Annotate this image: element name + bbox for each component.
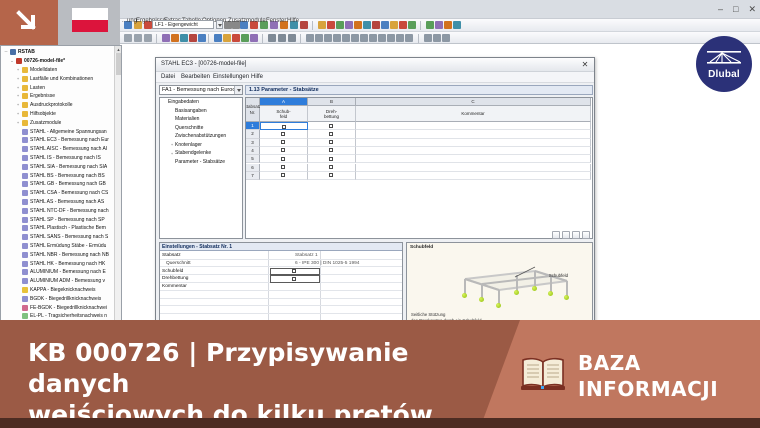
open-book-icon (520, 356, 566, 390)
grid-button[interactable] (572, 231, 580, 239)
folder-icon (22, 93, 28, 99)
toolbar-separator (418, 34, 419, 43)
toolbar-icon[interactable] (405, 34, 413, 42)
support-icon (496, 303, 501, 308)
table-cell[interactable] (260, 139, 308, 147)
module-icon (22, 243, 28, 249)
dialog-tree-item-2[interactable]: Materialien (160, 115, 242, 124)
navigator-module-11[interactable]: STAHL Plastisch - Plastische Bem (3, 224, 115, 233)
toolbar-icon[interactable] (124, 34, 132, 42)
module-icon (22, 269, 28, 275)
navigator-root-label: RSTAB (18, 49, 35, 55)
navigator-module-label: STAHL AISC - Bemessung nach AI (30, 146, 107, 152)
poland-flag-icon (72, 8, 108, 32)
arrow-down-right-icon (16, 10, 42, 36)
table-row-header[interactable]: 7 (246, 172, 260, 180)
navigator-group-4[interactable]: +Ausdruckprotokolle (3, 101, 115, 110)
toolbar-icon[interactable] (369, 34, 377, 42)
module-icon (22, 305, 28, 311)
navigator-module-label: STAHL Ermüdung Stäbe - Ermüdu (30, 243, 106, 249)
navigator-module-6[interactable]: STAHL GB - Bemessung nach GB (3, 180, 115, 189)
navigator-module-label: STAHL EC3 - Bemessung nach Eur (30, 137, 109, 143)
navigator-group-5[interactable]: +Hilfsobjekte (3, 110, 115, 119)
table-cell[interactable] (260, 155, 308, 163)
expander-icon[interactable]: + (15, 102, 21, 108)
dialog-close-icon[interactable]: ✕ (580, 60, 590, 70)
toolbar-icon[interactable] (171, 34, 179, 42)
support-icon (548, 291, 553, 296)
module-icon (22, 146, 28, 152)
stahl-ec3-dialog[interactable]: STAHL EC3 - [00726-model-file] ✕ Datei B… (155, 57, 595, 330)
navigator-module-label: ALUMINIUM ADM - Bemessung v (30, 278, 105, 284)
navigator-group-label: Zusatzmodule (30, 120, 61, 126)
navigator-module-9[interactable]: STAHL NTC-DF - Bemessung nach (3, 206, 115, 215)
dlubal-logo-badge: Dlubal (696, 36, 752, 92)
expander-icon[interactable]: + (15, 67, 21, 73)
dialog-tree-item-7[interactable]: Parameter - Stabsätze (160, 158, 242, 167)
expander-icon[interactable]: + (15, 93, 21, 99)
toolbar-icon[interactable] (342, 34, 350, 42)
flag-overlay (58, 0, 120, 45)
table-cell[interactable] (308, 155, 356, 163)
dialog-menu-einstellungen[interactable]: Einstellungen (213, 74, 249, 80)
settings-row-1[interactable]: Querschnitt6 - IPE 300 | DIN 1025-5 1994 (160, 260, 403, 268)
table-row-header[interactable]: 6 (246, 164, 260, 172)
module-icon (22, 129, 28, 135)
toolbar-icon[interactable] (288, 34, 296, 42)
navigator-module-2[interactable]: STAHL AISC - Bemessung nach AI (3, 145, 115, 154)
module-icon (22, 225, 28, 231)
folder-icon (22, 67, 28, 73)
table-row-header[interactable]: 2 (246, 130, 260, 138)
checkbox[interactable] (329, 173, 333, 177)
settings-row-0[interactable]: StabsatzStabsatz 1 (160, 252, 403, 260)
module-icon (22, 208, 28, 214)
toolbar-icon[interactable] (360, 34, 368, 42)
shear-panel-diagram (407, 253, 593, 311)
expander-icon[interactable]: + (15, 111, 21, 117)
toolbar-icon[interactable] (396, 34, 404, 42)
toolbar-icon[interactable] (198, 34, 206, 42)
navigator-module-label: STAHL - Allgemeine Spannungsan (30, 129, 107, 135)
toolbar-icon[interactable] (214, 34, 222, 42)
navigator-module-18[interactable]: KAPPA - Biegeknicknachweis (3, 286, 115, 295)
folder-icon (22, 120, 28, 126)
expander-icon[interactable]: + (15, 85, 21, 91)
support-icon (479, 297, 484, 302)
table-cell[interactable] (356, 122, 591, 130)
navigator-module-label: STAHL NTC-DF - Bemessung nach (30, 208, 109, 214)
settings-row-empty (160, 299, 403, 307)
navigator-scrollbar[interactable]: ▲ ▼ (114, 46, 121, 330)
settings-key: Kommentar (162, 284, 187, 289)
toolbar-separator (300, 34, 301, 43)
navigator-module-17[interactable]: ALUMINIUM ADM - Bemessung v (3, 277, 115, 286)
navigator-module-19[interactable]: BGDK - Biegedrillknicknachweis (3, 294, 115, 303)
settings-button[interactable] (582, 231, 590, 239)
module-icon (22, 287, 28, 293)
arrow-overlay (0, 0, 58, 45)
settings-row-empty (160, 291, 403, 299)
dialog-tree-label: Materialien (175, 116, 199, 122)
checkbox[interactable] (281, 140, 285, 144)
navigator-module-1[interactable]: STAHL EC3 - Bemessung nach Eur (3, 136, 115, 145)
module-icon (22, 173, 28, 179)
navigator-module-label: STAHL AS - Bemessung nach AS (30, 199, 104, 205)
dialog-tree-label: Stabendgelenke (175, 150, 211, 156)
scrollbar-thumb[interactable] (116, 53, 121, 75)
dialog-tree-label: Eingabedaten (168, 99, 199, 105)
table-cell[interactable] (308, 130, 356, 138)
checkbox[interactable] (329, 140, 333, 144)
banner-badge-line1: BAZA (578, 350, 718, 376)
folder-icon (22, 102, 28, 108)
toolbar-icon[interactable] (387, 34, 395, 42)
design-case-value: FA1 - Bemessung nach Eurocod (162, 87, 241, 93)
toolbar-icon[interactable] (324, 34, 332, 42)
filter-button[interactable] (552, 231, 560, 239)
module-icon (22, 261, 28, 267)
table-column-header-0: Schub-feld (260, 106, 308, 122)
module-icon (22, 181, 28, 187)
toolbar-separator (208, 34, 209, 43)
flag-white-stripe (72, 8, 108, 20)
table-cell[interactable] (356, 130, 591, 138)
dialog-tree-label: Knotenlager (175, 142, 202, 148)
navigator-module-3[interactable]: STAHL IS - Bemessung nach IS (3, 154, 115, 163)
toolbar-icon[interactable] (333, 34, 341, 42)
navigator-module-label: ALUMINIUM - Bemessung nach E (30, 269, 106, 275)
flag-red-stripe (72, 20, 108, 32)
preview-annotation: Schubfeld (549, 273, 568, 278)
toolbar-icon[interactable] (351, 34, 359, 42)
project-navigator[interactable]: ─ RSTAB – 00726-model-file* +Modelldaten… (0, 45, 122, 330)
navigator-module-label: STAHL IS - Bemessung nach IS (30, 155, 101, 161)
table-cell[interactable] (260, 172, 308, 180)
load-case-combo[interactable]: LF1 - Eigengewicht (152, 20, 214, 29)
menu-item-fenster[interactable]: Fenster (266, 18, 286, 24)
toolbar-icon[interactable] (144, 34, 152, 42)
table-row-header[interactable]: 5 (246, 155, 260, 163)
toolbar-icon[interactable] (162, 34, 170, 42)
table-row-header[interactable]: 4 (246, 147, 260, 155)
dialog-tree-item-0[interactable]: Eingabedaten (160, 98, 242, 107)
settings-value: 6 - IPE 300 | DIN 1025-5 1994 (295, 261, 359, 266)
expander-icon[interactable]: – (9, 58, 15, 64)
design-case-combo[interactable]: FA1 - Bemessung nach Eurocod (159, 85, 243, 95)
dialog-tree-item-5[interactable]: +Knotenlager (160, 141, 242, 150)
folder-icon (22, 111, 28, 117)
toolbar-icon[interactable] (278, 34, 286, 42)
module-icon (22, 199, 28, 205)
navigator-module-label: STAHL CSA - Bemessung nach CS (30, 190, 108, 196)
bottom-banner: KB 000726 | Przypisywanie danych wejścio… (0, 320, 760, 428)
navigator-group-label: Ergebnisse (30, 93, 55, 99)
checkbox[interactable] (281, 165, 285, 169)
table-cell[interactable] (356, 155, 591, 163)
settings-key: Stabsatz (162, 253, 181, 258)
dialog-menubar[interactable]: Datei Bearbeiten Einstellungen Hilfe (156, 72, 595, 83)
banner-bottom-strip (0, 418, 760, 428)
preview-title: Schubfeld (410, 245, 433, 250)
navigator-group-label: Lastfälle und Kombinationen (30, 76, 93, 82)
dialog-titlebar: STAHL EC3 - [00726-model-file] (156, 58, 595, 72)
navigator-group-2[interactable]: +Lasten (3, 83, 115, 92)
table-cell[interactable] (260, 164, 308, 172)
navigator-module-label: STAHL SIA - Bemessung nach SIA (30, 164, 107, 170)
support-icon (532, 286, 537, 291)
navigator-module-label: STAHL HK - Bemessung nach HK (30, 261, 105, 267)
menu-item-hilfe[interactable]: Hilfe (287, 18, 299, 24)
toolbar-icon[interactable] (250, 34, 258, 42)
checkbox[interactable] (292, 277, 296, 281)
module-icon (22, 155, 28, 161)
table-col-letter-B[interactable]: B (308, 98, 356, 106)
navigator-module-label: KAPPA - Biegeknicknachweis (30, 287, 96, 293)
checkbox[interactable] (281, 157, 285, 161)
folder-icon (22, 85, 28, 91)
dialog-tree-item-6[interactable]: +Stabendgelenke (160, 149, 242, 158)
table-column-header-2: Kommentar (356, 106, 591, 122)
dlubal-frame-icon (706, 48, 742, 68)
dialog-tree-label: Parameter - Stabsätze (175, 159, 225, 165)
navigator-root[interactable]: ─ RSTAB (3, 48, 115, 57)
module-icon (22, 313, 28, 319)
table-cell[interactable] (308, 172, 356, 180)
folder-icon (22, 76, 28, 82)
navigator-group-1[interactable]: +Lastfälle und Kombinationen (3, 74, 115, 83)
parameter-table[interactable]: StabsatzNr.ASchub-feldBDreh-bettungCKomm… (245, 97, 593, 239)
table-cell[interactable] (356, 147, 591, 155)
settings-panel[interactable]: Einstellungen - Stabsatz Nr. 1 StabsatzS… (159, 242, 403, 328)
navigator-group-label: Lasten (30, 85, 45, 91)
menu-item-berechnung[interactable]: ...ung (122, 18, 137, 24)
expander-icon[interactable]: + (15, 120, 21, 126)
toolbar-icon[interactable] (241, 34, 249, 42)
toolbar-icon[interactable] (189, 34, 197, 42)
table-cell[interactable] (260, 147, 308, 155)
chevron-down-icon[interactable] (234, 86, 242, 94)
navigator-module-label: STAHL SANS - Bemessung nach S (30, 234, 108, 240)
support-icon (462, 293, 467, 298)
table-col-letter-A[interactable]: A (260, 98, 308, 106)
navigator-module-label: STAHL SP - Bemessung nach SP (30, 217, 105, 223)
toolbar-icon[interactable] (424, 34, 432, 42)
table-cell[interactable] (308, 139, 356, 147)
dialog-menu-hilfe[interactable]: Hilfe (251, 74, 263, 80)
menu-item-zusatzmodule[interactable]: Zusatzmodule (228, 18, 266, 24)
checkbox[interactable] (281, 173, 285, 177)
scroll-up-icon[interactable]: ▲ (115, 46, 122, 53)
table-corner-header: StabsatzNr. (246, 98, 260, 122)
navigator-group-label: Ausdruckprotokolle (30, 102, 73, 108)
model-icon (16, 58, 22, 64)
support-icon (514, 290, 519, 295)
table-col-letter-C[interactable]: C (356, 98, 591, 106)
navigator-group-0[interactable]: +Modelldaten (3, 66, 115, 75)
table-caption: 1.13 Parameter - Stabsätze (245, 85, 593, 95)
settings-row-3[interactable]: Drehbettung (160, 275, 403, 283)
dialog-tree-item-1[interactable]: Basisangaben (160, 107, 242, 116)
settings-row-4[interactable]: Kommentar (160, 283, 403, 291)
settings-row-empty (160, 307, 403, 315)
settings-value: Stabsatz 1 (295, 253, 318, 258)
dialog-tree-label: Querschnitte (175, 125, 203, 131)
navigator-project[interactable]: – 00726-model-file* (3, 57, 115, 66)
module-icon (22, 234, 28, 240)
table-cell[interactable] (308, 122, 356, 130)
checkbox[interactable] (329, 165, 333, 169)
preview-panel: Schubfeld (406, 242, 593, 328)
dialog-menu-datei[interactable]: Datei (161, 74, 175, 80)
rstab-application-window: – □ ✕ ...ung Ergebnisse Extras Tabelle O… (0, 0, 760, 330)
maximize-icon[interactable]: □ (733, 5, 738, 14)
navigator-module-12[interactable]: STAHL SANS - Bemessung nach S (3, 233, 115, 242)
dialog-navigation-tree[interactable]: EingabedatenBasisangabenMaterialienQuers… (159, 97, 243, 239)
table-cell[interactable] (356, 172, 591, 180)
settings-caption: Einstellungen - Stabsatz Nr. 1 (160, 243, 403, 251)
navigator-project-label: 00726-model-file* (24, 58, 65, 64)
toolbar-icon[interactable] (433, 34, 441, 42)
chevron-down-icon[interactable] (216, 20, 223, 29)
banner-badge-text: BAZA INFORMACJI (578, 350, 718, 402)
navigator-module-16[interactable]: ALUMINIUM - Bemessung nach E (3, 268, 115, 277)
table-column-header-1: Dreh-bettung (308, 106, 356, 122)
navigator-module-10[interactable]: STAHL SP - Bemessung nach SP (3, 215, 115, 224)
checkbox[interactable] (329, 148, 333, 152)
module-icon (22, 190, 28, 196)
checkbox[interactable] (281, 132, 285, 136)
toolbar-separator (262, 34, 263, 43)
toolbar-icon[interactable] (134, 34, 142, 42)
navigator-module-label: FE-BGDK - Biegedrillknicknachwei (30, 305, 107, 311)
dialog-tree-item-3[interactable]: Querschnitte (160, 124, 242, 133)
toolbar-icon[interactable] (315, 34, 323, 42)
navigator-module-8[interactable]: STAHL AS - Bemessung nach AS (3, 198, 115, 207)
navigator-module-15[interactable]: STAHL HK - Bemessung nach HK (3, 259, 115, 268)
checkbox[interactable] (292, 269, 296, 273)
close-icon[interactable]: ✕ (748, 5, 756, 14)
toolbar-icon[interactable] (223, 34, 231, 42)
toolbar-icon[interactable] (306, 34, 314, 42)
support-icon (564, 295, 569, 300)
module-icon (22, 217, 28, 223)
banner-badge-line2: INFORMACJI (578, 376, 718, 402)
navigator-module-14[interactable]: STAHL NBR - Bemessung nach NB (3, 250, 115, 259)
navigator-group-6[interactable]: +Zusatzmodule (3, 118, 115, 127)
window-controls[interactable]: – □ ✕ (718, 0, 756, 18)
dialog-tree-label: Zwischenabstützungen (175, 133, 226, 139)
color-button[interactable] (562, 231, 570, 239)
module-icon (22, 164, 28, 170)
toolbar-icon[interactable] (180, 34, 188, 42)
settings-key: Drehbettung (162, 276, 188, 281)
dialog-title: STAHL EC3 - [00726-model-file] (161, 61, 246, 67)
toolbar-separator (156, 34, 157, 43)
navigator-module-label: STAHL NBR - Bemessung nach NB (30, 252, 109, 258)
table-mini-toolbar[interactable] (552, 231, 590, 239)
navigator-group-label: Modelldaten (30, 67, 57, 73)
checkbox[interactable] (281, 148, 285, 152)
table-cell[interactable] (356, 164, 591, 172)
module-icon (22, 296, 28, 302)
dialog-tree-label: Basisangaben (175, 108, 207, 114)
settings-key: Schubfeld (162, 269, 183, 274)
dialog-tree-item-4[interactable]: Zwischenabstützungen (160, 132, 242, 141)
navigator-module-7[interactable]: STAHL CSA - Bemessung nach CS (3, 189, 115, 198)
navigator-module-4[interactable]: STAHL SIA - Bemessung nach SIA (3, 162, 115, 171)
table-row-header[interactable]: 3 (246, 139, 260, 147)
navigator-module-label: STAHL Plastisch - Plastische Bem (30, 225, 106, 231)
navigator-group-label: Hilfsobjekte (30, 111, 56, 117)
module-icon (22, 137, 28, 143)
dlubal-wordmark: Dlubal (708, 69, 740, 80)
settings-key: Querschnitt (166, 261, 191, 266)
banner-title: KB 000726 | Przypisywanie danych wejścio… (28, 337, 498, 428)
toolbar-icon[interactable] (442, 34, 450, 42)
toolbar-icon[interactable] (378, 34, 386, 42)
table-cell[interactable] (308, 164, 356, 172)
table-cell[interactable] (260, 122, 308, 130)
checkbox[interactable] (329, 132, 333, 136)
navigator-module-label: STAHL GB - Bemessung nach GB (30, 181, 106, 187)
navigator-module-label: EL-PL - Tragsicherheitsnachweis n (30, 313, 107, 319)
toolbar-icon[interactable] (268, 34, 276, 42)
rstab-icon (10, 49, 16, 55)
table-cell[interactable] (260, 130, 308, 138)
navigator-module-label: BGDK - Biegedrillknicknachweis (30, 296, 101, 302)
dialog-menu-bearbeiten[interactable]: Bearbeiten (181, 74, 210, 80)
module-icon (22, 252, 28, 258)
banner-title-line1: KB 000726 | Przypisywanie danych (28, 337, 498, 399)
checkbox[interactable] (282, 125, 286, 129)
navigator-module-label: STAHL BS - Bemessung nach BS (30, 173, 105, 179)
checkbox[interactable] (329, 124, 333, 128)
navigator-group-3[interactable]: +Ergebnisse (3, 92, 115, 101)
checkbox[interactable] (329, 157, 333, 161)
navigator-module-13[interactable]: STAHL Ermüdung Stäbe - Ermüdu (3, 242, 115, 251)
toolbar-icon[interactable] (232, 34, 240, 42)
expander-icon[interactable]: ─ (3, 49, 9, 55)
expander-icon[interactable]: + (15, 76, 21, 82)
navigator-module-20[interactable]: FE-BGDK - Biegedrillknicknachwei (3, 303, 115, 312)
rowhdr-line2: Nr. (250, 110, 256, 116)
table-row-header[interactable]: 1 (246, 122, 260, 130)
table-cell[interactable] (356, 139, 591, 147)
navigator-module-0[interactable]: STAHL - Allgemeine Spannungsan (3, 127, 115, 136)
table-cell[interactable] (308, 147, 356, 155)
module-icon (22, 278, 28, 284)
settings-row-2[interactable]: Schubfeld (160, 268, 403, 276)
minimize-icon[interactable]: – (718, 5, 723, 14)
navigator-module-5[interactable]: STAHL BS - Bemessung nach BS (3, 171, 115, 180)
